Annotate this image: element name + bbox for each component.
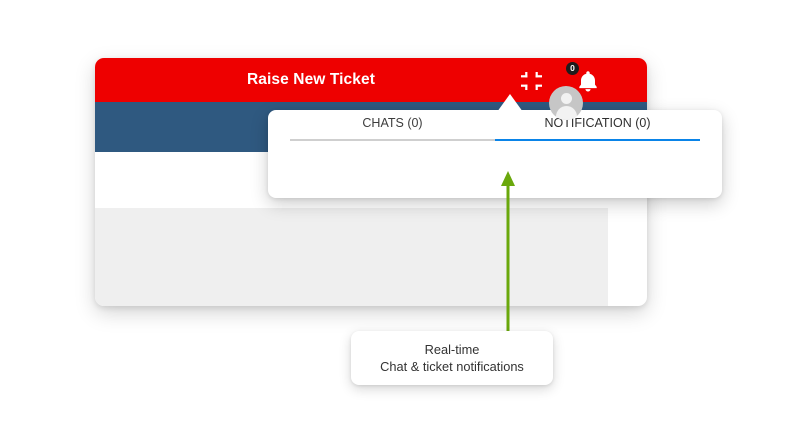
annotation-arrow-up-icon [495,170,521,335]
avatar-body-shape [556,106,577,120]
tab-notification[interactable]: NOTIFICATION (0) [495,116,700,141]
popover-tab-bar: CHATS (0) NOTIFICATION (0) [290,116,700,141]
annotation-callout: Real-time Chat & ticket notifications [351,331,553,385]
popover-caret [497,94,523,112]
avatar-head-shape [561,93,572,104]
compress-icon[interactable] [521,72,542,90]
tab-chats[interactable]: CHATS (0) [290,116,495,141]
avatar[interactable] [549,86,583,120]
app-content-panel [95,208,608,306]
notification-count-badge: 0 [566,62,579,75]
callout-line-2: Chat & ticket notifications [380,358,524,375]
callout-line-1: Real-time [425,341,480,358]
